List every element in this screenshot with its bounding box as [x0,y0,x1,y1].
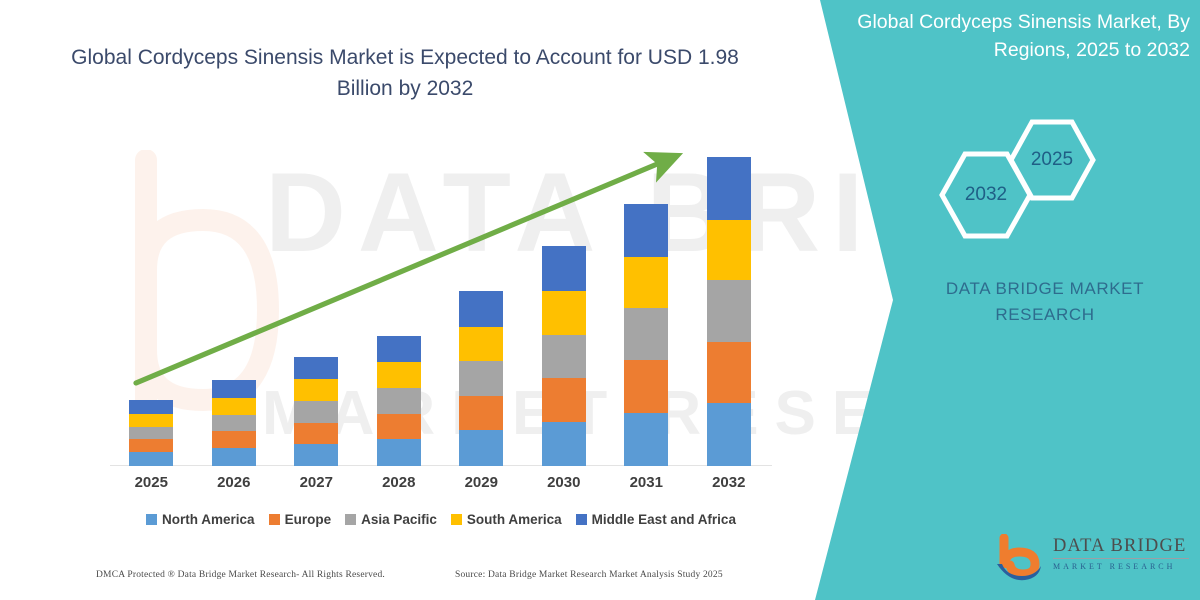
stacked-bar[interactable] [294,357,338,466]
stacked-bar[interactable] [542,246,586,466]
bar-segment [624,204,668,256]
hexagon-2025-label: 2025 [1031,149,1073,171]
page-title: Global Cordyceps Sinensis Market is Expe… [60,42,750,104]
legend-item[interactable]: North America [146,512,255,527]
bar-segment [212,380,256,398]
panel-title: Global Cordyceps Sinensis Market, By Reg… [820,8,1190,64]
bar-segment [377,336,421,363]
bar-segment [707,280,751,341]
x-axis-label-2029: 2029 [440,474,523,491]
x-axis-label-2026: 2026 [193,474,276,491]
stacked-bar[interactable] [459,291,503,466]
legend-label: Europe [285,512,332,527]
bar-segment [294,379,338,401]
bar-segment [129,427,173,440]
bar-segment [377,414,421,440]
legend-swatch-icon [576,514,587,525]
legend-swatch-icon [146,514,157,525]
brand-logo-text: DATA BRIDGE MARKET RESEARCH [1053,536,1189,571]
bar-segment [294,444,338,466]
legend-label: South America [467,512,562,527]
bar-segment [212,448,256,466]
bar-segment [542,422,586,466]
bar-segment [129,439,173,452]
bar-segment [624,308,668,360]
bar-column-2030 [523,140,606,466]
brand-logo: DATA BRIDGE MARKET RESEARCH [995,532,1190,588]
legend-item[interactable]: Asia Pacific [345,512,437,527]
legend-item[interactable]: Middle East and Africa [576,512,736,527]
legend-item[interactable]: Europe [269,512,332,527]
bar-column-2031 [605,140,688,466]
footer-copyright: DMCA Protected ® Data Bridge Market Rese… [96,570,385,580]
panel-brand-text: DATA BRIDGE MARKET RESEARCH [900,276,1190,328]
bar-segment [129,414,173,427]
brand-logo-sub: MARKET RESEARCH [1053,562,1189,571]
bar-segment [542,246,586,291]
x-axis-label-2032: 2032 [688,474,771,491]
bar-segment [294,357,338,379]
bar-column-2027 [275,140,358,466]
bar-column-2026 [193,140,276,466]
x-axis-label-2025: 2025 [110,474,193,491]
bar-segment [212,431,256,448]
bar-column-2028 [358,140,441,466]
bar-segment [459,327,503,362]
bar-segment [459,361,503,396]
chart-legend: North AmericaEuropeAsia PacificSouth Ame… [110,512,772,527]
stacked-bar[interactable] [129,400,173,466]
brand-logo-main: DATA BRIDGE [1053,536,1189,559]
footer-source: Source: Data Bridge Market Research Mark… [455,570,723,580]
bar-segment [707,220,751,280]
legend-label: Middle East and Africa [592,512,736,527]
legend-swatch-icon [345,514,356,525]
bar-segment [459,430,503,466]
data-bridge-b-icon [995,534,1047,586]
bar-segment [377,439,421,466]
x-axis-label-2030: 2030 [523,474,606,491]
hexagon-2032-label: 2032 [965,184,1007,206]
bar-segment [707,342,751,403]
legend-swatch-icon [269,514,280,525]
x-axis-label-2027: 2027 [275,474,358,491]
bar-segment [294,401,338,423]
bar-segment [624,413,668,466]
bar-segment [377,388,421,414]
legend-swatch-icon [451,514,462,525]
bar-segment [212,415,256,432]
bar-column-2032 [688,140,771,466]
bar-segment [129,452,173,466]
hexagon-badge-2025: 2025 [1007,118,1097,202]
legend-label: Asia Pacific [361,512,437,527]
bar-column-2029 [440,140,523,466]
bar-segment [459,291,503,327]
stacked-bar[interactable] [212,380,256,466]
bar-segment [212,398,256,415]
bar-segment [129,400,173,414]
bar-segment [542,335,586,378]
bar-segment [624,257,668,308]
bar-segment [707,157,751,220]
bar-segment [377,362,421,388]
bar-segment [542,291,586,334]
bar-segment [624,360,668,412]
stacked-bar[interactable] [624,204,668,466]
x-axis-label-2031: 2031 [605,474,688,491]
bar-segment [459,396,503,431]
infographic-canvas: DATA BRIDGE MARKET RESEARCH Global Cordy… [0,0,1200,600]
x-axis-labels: 20252026202720282029203020312032 [110,474,770,491]
x-axis-label-2028: 2028 [358,474,441,491]
legend-label: North America [162,512,255,527]
legend-item[interactable]: South America [451,512,562,527]
stacked-bar[interactable] [707,157,751,466]
stacked-bar[interactable] [377,336,421,466]
bar-segment [542,378,586,421]
bar-segment [707,403,751,466]
bar-column-2025 [110,140,193,466]
stacked-bar-group [110,140,770,466]
bar-segment [294,423,338,445]
